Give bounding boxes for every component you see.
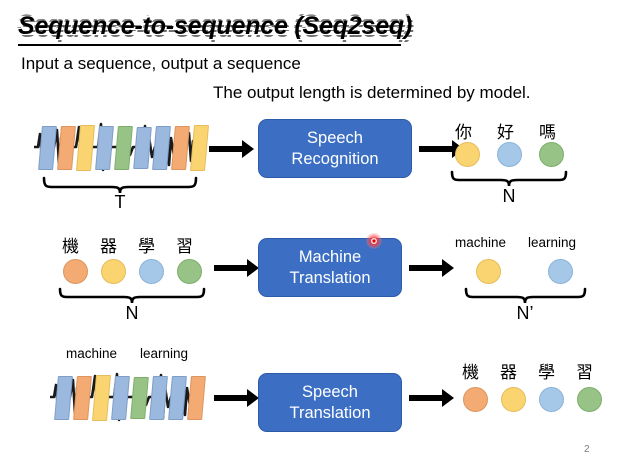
waveform-bar [190,125,209,171]
row-speech-translation-box-line-1: Speech [302,382,358,402]
row-machine-translation-input-token [139,259,164,284]
row-machine-translation-output-brace-label: N’ [500,303,550,324]
row-machine-translation-box-line-2: Translation [289,268,370,288]
row-speech-recognition-box[interactable]: Speech Recognition [258,119,412,178]
row-machine-translation-input-label: 機 [62,232,79,257]
row-speech-translation-input-waveform [48,368,204,426]
row-speech-translation-output-token [577,387,602,412]
row-machine-translation-input-label: 學 [138,232,155,257]
row-machine-translation-box[interactable]: Machine Translation [258,238,402,297]
row-speech-translation-output-token [539,387,564,412]
row-speech-translation-output-token [501,387,526,412]
row-speech-translation-input-label: learning [140,346,188,361]
row-machine-translation-input-brace-label: N [107,303,157,324]
slide-canvas: Sequence-to-sequence (Seq2seq) Sequence-… [0,0,636,475]
laser-pointer-dot [366,233,382,249]
subtitle-line-2: The output length is determined by model… [213,83,531,103]
row-speech-recognition-box-line-2: Recognition [291,149,378,169]
row-machine-translation-input-label: 器 [100,232,117,257]
row-speech-recognition-arrow-out [419,146,453,152]
row-machine-translation-input-label: 習 [176,232,193,257]
page-number: 2 [584,444,590,455]
row-speech-translation-arrow-in [214,395,248,401]
row-machine-translation-output-label: learning [528,235,576,250]
row-machine-translation-output-token [548,259,573,284]
row-speech-translation-output-label: 學 [538,358,555,383]
row-speech-translation-arrow-out [409,395,443,401]
row-speech-recognition-output-token [497,142,522,167]
row-speech-translation-input-label: machine [66,346,117,361]
row-speech-translation-box[interactable]: Speech Translation [258,373,402,432]
row-speech-recognition-box-line-1: Speech [307,128,363,148]
subtitle-line-1: Input a sequence, output a sequence [21,54,301,74]
row-speech-recognition-output-label: 好 [497,118,514,143]
row-speech-recognition-output-label: 嗎 [539,118,556,143]
row-speech-translation-output-label: 習 [576,358,593,383]
row-speech-recognition-arrow-in [209,146,243,152]
row-machine-translation-box-line-1: Machine [299,247,361,267]
row-speech-recognition-input-brace-label: T [95,192,145,213]
row-speech-recognition-input-waveform [32,118,202,176]
row-machine-translation-input-token [63,259,88,284]
row-speech-translation-output-label: 機 [462,358,479,383]
row-machine-translation-arrow-out [409,265,443,271]
row-speech-translation-box-line-2: Translation [289,403,370,423]
row-speech-recognition-output-label: 你 [455,118,472,143]
page-title: Sequence-to-sequence (Seq2seq) Sequence-… [18,12,418,46]
title-underline [18,44,401,46]
row-speech-recognition-output-brace-label: N [484,186,534,207]
row-speech-recognition-output-token [539,142,564,167]
row-machine-translation-output-token [476,259,501,284]
page-title-text: Sequence-to-sequence (Seq2seq) [18,12,412,41]
row-machine-translation-input-token [101,259,126,284]
row-machine-translation-input-token [177,259,202,284]
row-speech-translation-output-label: 器 [500,358,517,383]
row-machine-translation-arrow-in [214,265,248,271]
row-speech-translation-output-token [463,387,488,412]
row-speech-recognition-output-token [455,142,480,167]
row-machine-translation-output-label: machine [455,235,506,250]
